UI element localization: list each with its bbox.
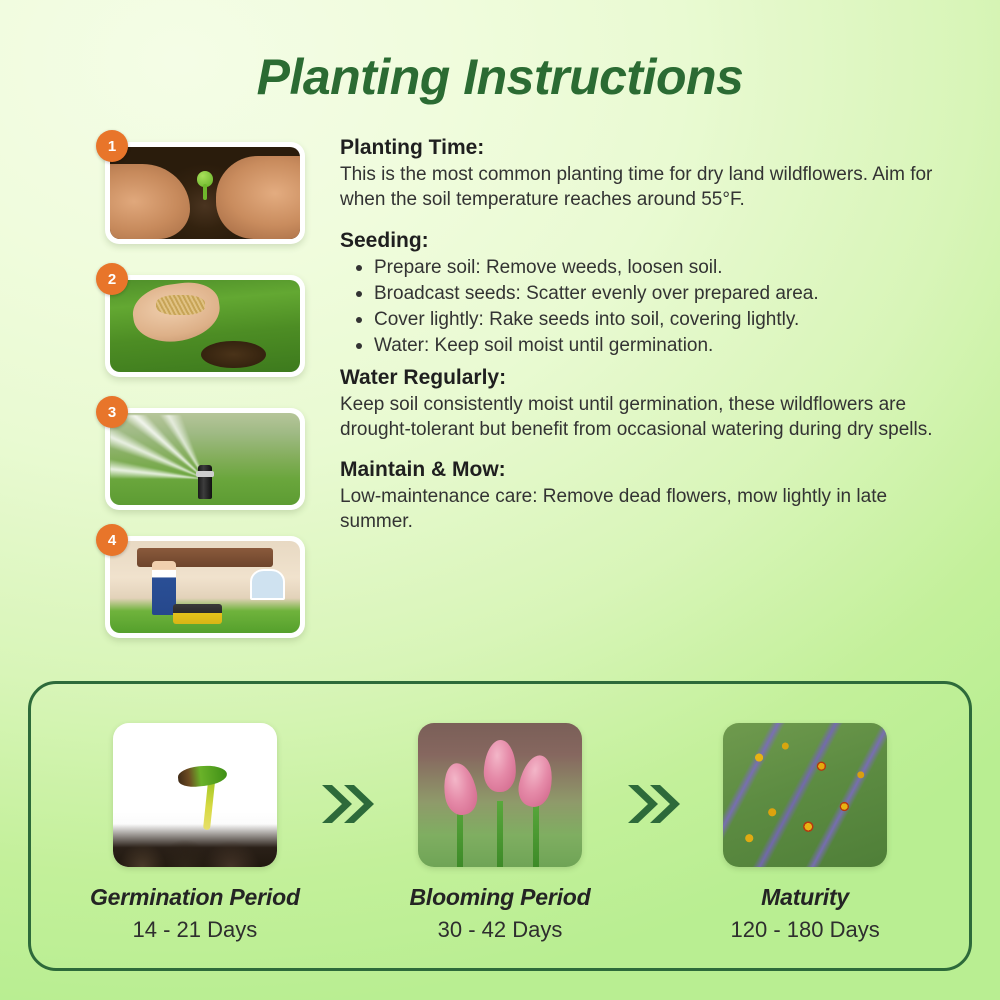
sprinkler-nozzle-shape <box>198 465 212 499</box>
step-thumbnail-3[interactable]: 3 <box>105 408 305 510</box>
lotus-bud-shape <box>440 761 481 818</box>
step-block-maintain-mow: Maintain & Mow: Low-maintenance care: Re… <box>340 458 940 534</box>
timeline-arrow-1 <box>313 723 382 827</box>
lawn-sprinkler-watering-photo <box>110 413 300 505</box>
timeline-stage-value: 120 - 180 Days <box>687 917 923 943</box>
step-thumbnail-1[interactable]: 1 <box>105 142 305 244</box>
seeding-bullet-list: Prepare soil: Remove weeds, loosen soil.… <box>340 255 940 359</box>
step-block-water-regularly: Water Regularly: Keep soil consistently … <box>340 366 940 442</box>
timeline-arrow-2 <box>618 723 687 827</box>
step-heading-4: Maintain & Mow: <box>340 458 940 482</box>
hands-holding-soil-with-sprout-photo <box>110 147 300 239</box>
step-heading-3: Water Regularly: <box>340 366 940 390</box>
sprouting-seedling-photo <box>113 723 277 867</box>
step-badge-4: 4 <box>96 524 128 556</box>
lawn-mower-shape <box>173 604 222 624</box>
pink-lotus-buds-photo <box>418 723 582 867</box>
step-body-4: Low-maintenance care: Remove dead flower… <box>340 484 940 534</box>
timeline-stage-blooming[interactable]: Blooming Period 30 - 42 Days <box>382 723 618 943</box>
step-block-planting-time: Planting Time: This is the most common p… <box>340 136 940 212</box>
man-mowing-lawn-in-front-of-house-photo <box>110 541 300 633</box>
timeline-stage-maturity[interactable]: Maturity 120 - 180 Days <box>687 723 923 943</box>
soil-clods-shape <box>113 824 277 867</box>
step-badge-3: 3 <box>96 396 128 428</box>
list-item: Broadcast seeds: Scatter evenly over pre… <box>348 281 940 307</box>
double-chevron-right-icon <box>318 781 376 827</box>
hand-broadcasting-seeds-on-lawn-photo <box>110 280 300 372</box>
step-block-seeding: Seeding: Prepare soil: Remove weeds, loo… <box>340 229 940 359</box>
step-badge-1: 1 <box>96 130 128 162</box>
steps-section: 1 2 3 4 Planting Tim <box>0 136 1000 656</box>
step-heading-2: Seeding: <box>340 229 940 253</box>
step-thumbnail-2[interactable]: 2 <box>105 275 305 377</box>
step-heading-1: Planting Time: <box>340 136 940 160</box>
seedling-leaf-shape <box>178 764 229 789</box>
double-chevron-right-icon <box>624 781 682 827</box>
timeline-stage-germination[interactable]: Germination Period 14 - 21 Days <box>77 723 313 943</box>
timeline-stage-value: 30 - 42 Days <box>382 917 618 943</box>
step-body-3: Keep soil consistently moist until germi… <box>340 392 940 442</box>
lotus-bud-shape <box>515 752 557 810</box>
growth-timeline-panel: Germination Period 14 - 21 Days Blooming… <box>28 681 972 971</box>
timeline-stage-label: Maturity <box>687 884 923 911</box>
timeline-stage-value: 14 - 21 Days <box>77 917 313 943</box>
step-text-column: Planting Time: This is the most common p… <box>340 136 940 548</box>
lotus-stem-shape <box>533 801 539 867</box>
timeline-stage-label: Germination Period <box>77 884 313 911</box>
step-badge-2: 2 <box>96 263 128 295</box>
soil-patch-shape <box>201 341 266 369</box>
lotus-bud-shape <box>483 740 517 793</box>
step-body-1: This is the most common planting time fo… <box>340 162 940 212</box>
list-item: Cover lightly: Rake seeds into soil, cov… <box>348 307 940 333</box>
lotus-stem-shape <box>497 801 503 867</box>
timeline-stage-label: Blooming Period <box>382 884 618 911</box>
sprout-icon <box>197 171 213 187</box>
timeline-row: Germination Period 14 - 21 Days Blooming… <box>31 684 969 968</box>
list-item: Prepare soil: Remove weeds, loosen soil. <box>348 255 940 281</box>
page-title: Planting Instructions <box>0 48 1000 106</box>
wildflower-meadow-photo <box>723 723 887 867</box>
step-thumbnail-4[interactable]: 4 <box>105 536 305 638</box>
list-item: Water: Keep soil moist until germination… <box>348 333 940 359</box>
